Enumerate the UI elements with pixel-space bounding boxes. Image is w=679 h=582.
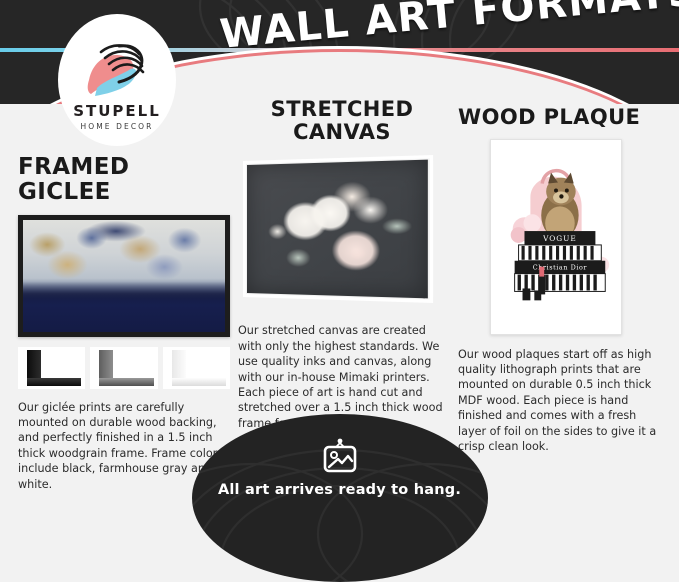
frame-swatch-black[interactable] xyxy=(18,347,85,389)
logo-name: STUPELL xyxy=(73,102,161,120)
yorkie-fashion-books-image: VOGUE Christian Dior xyxy=(491,140,621,334)
logo-swoosh-icon xyxy=(79,36,155,98)
brand-logo: STUPELL HOME DECOR xyxy=(58,14,176,146)
footer-tagline: All art arrives ready to hang. xyxy=(218,482,461,498)
frame-swatch-white[interactable] xyxy=(163,347,230,389)
frame-color-swatches xyxy=(18,347,230,389)
wood-plaque-description: Our wood plaques start off as high quali… xyxy=(458,347,666,455)
stretched-canvas-artwork xyxy=(241,151,443,309)
abstract-painting-image xyxy=(23,220,225,332)
footer-banner: All art arrives ready to hang. xyxy=(192,414,488,582)
framed-giclee-heading: FRAMED GICLEE xyxy=(18,155,230,205)
frame-swatch-gray[interactable] xyxy=(90,347,157,389)
logo-subtitle: HOME DECOR xyxy=(80,122,153,131)
wood-plaque-heading: WOOD PLAQUE xyxy=(458,106,666,129)
stretched-canvas-heading: STRETCHED CANVAS xyxy=(238,98,446,143)
column-stretched-canvas: STRETCHED CANVAS Our stretched canvas ar… xyxy=(238,98,446,431)
column-wood-plaque: WOOD PLAQUE xyxy=(458,106,666,455)
floral-canvas-image xyxy=(247,160,428,299)
framed-giclee-artwork xyxy=(18,215,230,337)
framed-picture-icon xyxy=(319,438,361,474)
svg-text:VOGUE: VOGUE xyxy=(542,234,577,243)
wood-plaque-artwork: VOGUE Christian Dior xyxy=(490,139,622,335)
